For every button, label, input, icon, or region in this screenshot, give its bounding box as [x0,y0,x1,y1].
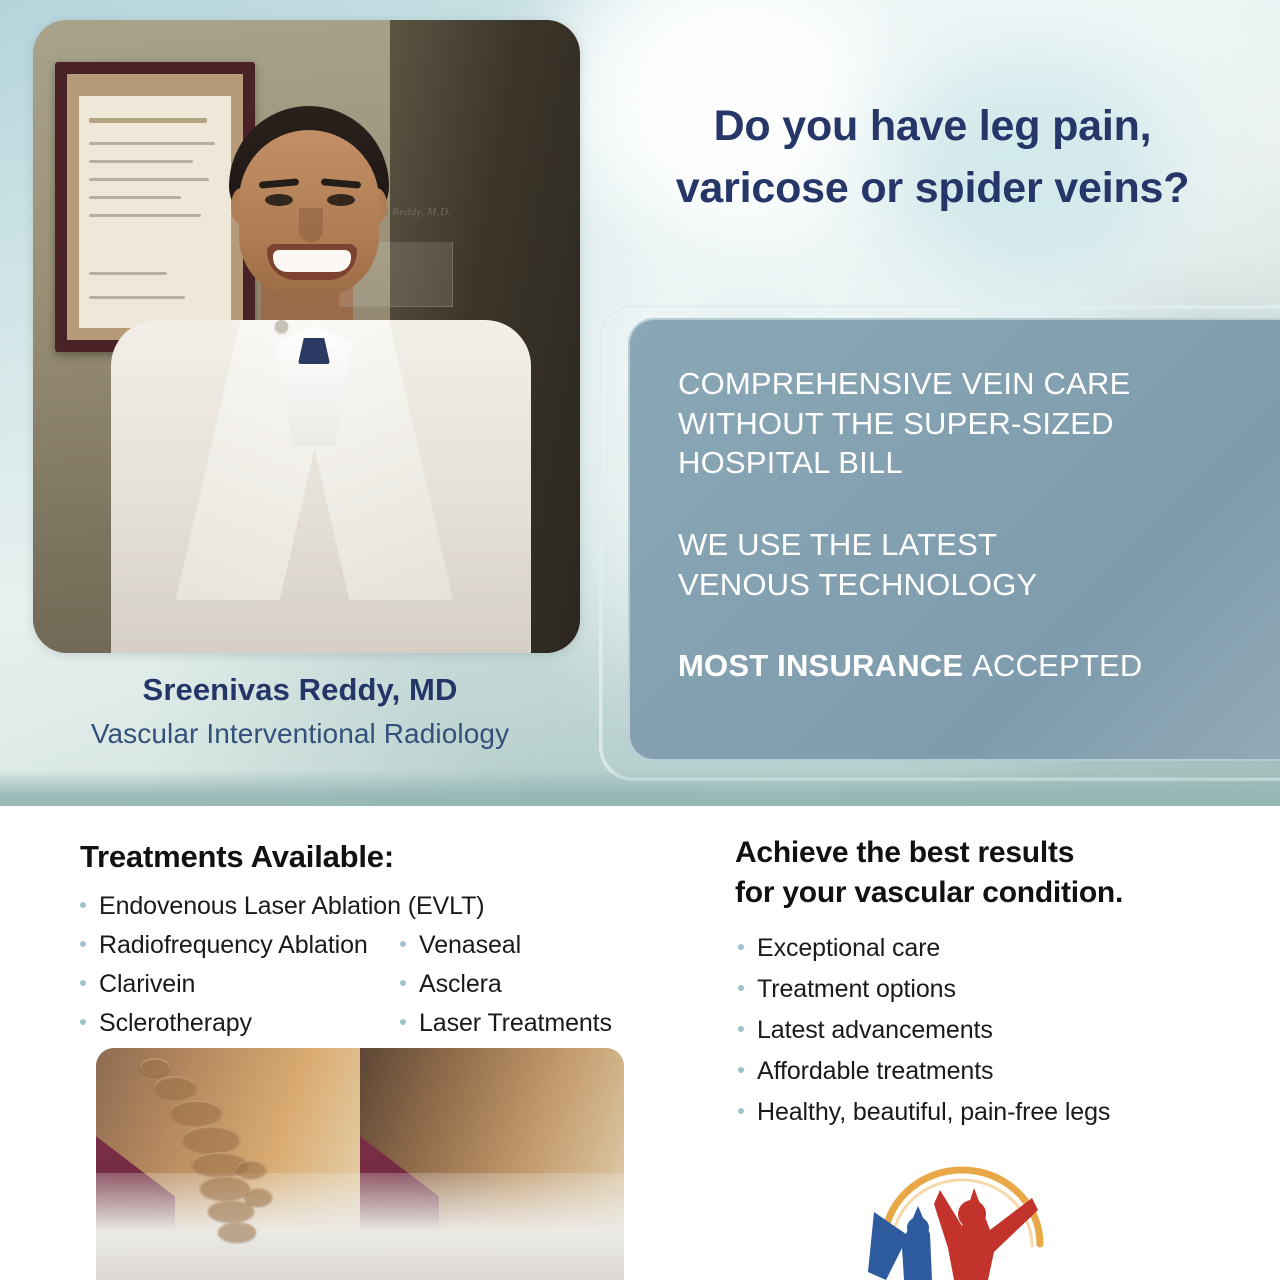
treatment-label: Asclera [419,970,502,998]
leg-photo-after [360,1048,624,1280]
headline-line-2: varicose or spider veins? [600,157,1265,219]
info-block-latest: WE USE THE LATEST VENOUS TECHNOLOGY [678,525,1258,604]
info-normal-comprehensive-2: HOSPITAL BILL [678,443,1258,483]
info-normal-comprehensive-1: WITHOUT THE SUPER-SIZED [678,404,1258,444]
bullet-icon [80,941,86,947]
benefit-label: Latest advancements [757,1016,993,1044]
benefit-label: Affordable treatments [757,1057,993,1085]
photo-nose [299,208,323,242]
doctor-specialty: Vascular Interventional Radiology [0,718,600,750]
benefit-item-affordable-treatments: Affordable treatments [738,1057,993,1086]
info-line-insurance: MOST INSURANCE ACCEPTED [678,646,1258,686]
achieve-heading-line-1: Achieve the best results [735,833,1205,873]
treatment-item-laser: Laser Treatments [400,1009,612,1038]
page-headline: Do you have leg pain, varicose or spider… [600,95,1265,220]
photo-eye-right [327,194,355,206]
headline-line-1: Do you have leg pain, [600,95,1265,157]
before-after-leg-photo [96,1048,624,1280]
doctor-portrait-photo: Sreenivas Reddy, M.D. [33,20,580,653]
treatment-item-asclera: Asclera [400,970,502,999]
photo-teeth [273,250,351,272]
treatment-label: Endovenous Laser Ablation (EVLT) [99,892,484,920]
benefit-item-healthy-legs: Healthy, beautiful, pain-free legs [738,1098,1110,1127]
info-bold-insurance: MOST INSURANCE [678,648,963,683]
bullet-icon [738,944,744,950]
leg-photo-before [96,1048,360,1280]
bullet-icon [738,1067,744,1073]
bullet-icon [400,941,406,947]
benefit-item-exceptional-care: Exceptional care [738,934,940,963]
treatment-label: Radiofrequency Ablation [99,931,368,959]
info-block-comprehensive: COMPREHENSIVE VEIN CARE WITHOUT THE SUPE… [678,364,1258,483]
photo-coat-button [275,320,288,333]
treatment-label: Sclerotherapy [99,1009,252,1037]
lower-section: Treatments Available: Endovenous Laser A… [0,806,1280,1280]
clinic-logo [862,1148,1062,1280]
info-bold-latest: WE USE THE LATEST [678,525,1258,565]
photo-eye-left [265,194,293,206]
treatment-item-evlt: Endovenous Laser Ablation (EVLT) [80,892,484,921]
treatment-item-clarivein: Clarivein [80,970,195,999]
doctor-name: Sreenivas Reddy, MD [0,672,600,708]
info-block-insurance: MOST INSURANCE ACCEPTED [678,646,1258,686]
achieve-heading: Achieve the best results for your vascul… [735,833,1205,912]
photo-sheet [360,1173,624,1280]
bullet-icon [738,985,744,991]
info-normal-insurance [963,648,972,683]
bullet-icon [80,980,86,986]
treatment-item-venaseal: Venaseal [400,931,521,960]
benefit-label: Exceptional care [757,934,940,962]
bullet-icon [400,1019,406,1025]
logo-figures-icon [862,1148,1062,1280]
benefit-label: Treatment options [757,975,956,1003]
info-bold-comprehensive: COMPREHENSIVE VEIN CARE [678,364,1258,404]
achieve-heading-line-2: for your vascular condition. [735,873,1205,913]
benefit-item-treatment-options: Treatment options [738,975,956,1004]
benefit-item-latest-advancements: Latest advancements [738,1016,993,1045]
bullet-icon [738,1108,744,1114]
treatment-item-radiofrequency: Radiofrequency Ablation [80,931,368,960]
info-panel: COMPREHENSIVE VEIN CARE WITHOUT THE SUPE… [628,318,1280,761]
treatment-label: Venaseal [419,931,521,959]
info-normal-latest-1: VENOUS TECHNOLOGY [678,565,1258,605]
bullet-icon [738,1026,744,1032]
treatments-heading: Treatments Available: [80,839,394,875]
hero-section: Sreenivas Reddy, M.D. Sreenivas Reddy, M… [0,0,1280,806]
photo-certificate-paper [79,96,231,328]
benefit-label: Healthy, beautiful, pain-free legs [757,1098,1110,1126]
treatment-item-sclerotherapy: Sclerotherapy [80,1009,252,1038]
info-normal-insurance-text: ACCEPTED [972,648,1142,683]
bullet-icon [80,1019,86,1025]
treatment-label: Laser Treatments [419,1009,612,1037]
bullet-icon [400,980,406,986]
bullet-icon [80,902,86,908]
treatment-label: Clarivein [99,970,195,998]
